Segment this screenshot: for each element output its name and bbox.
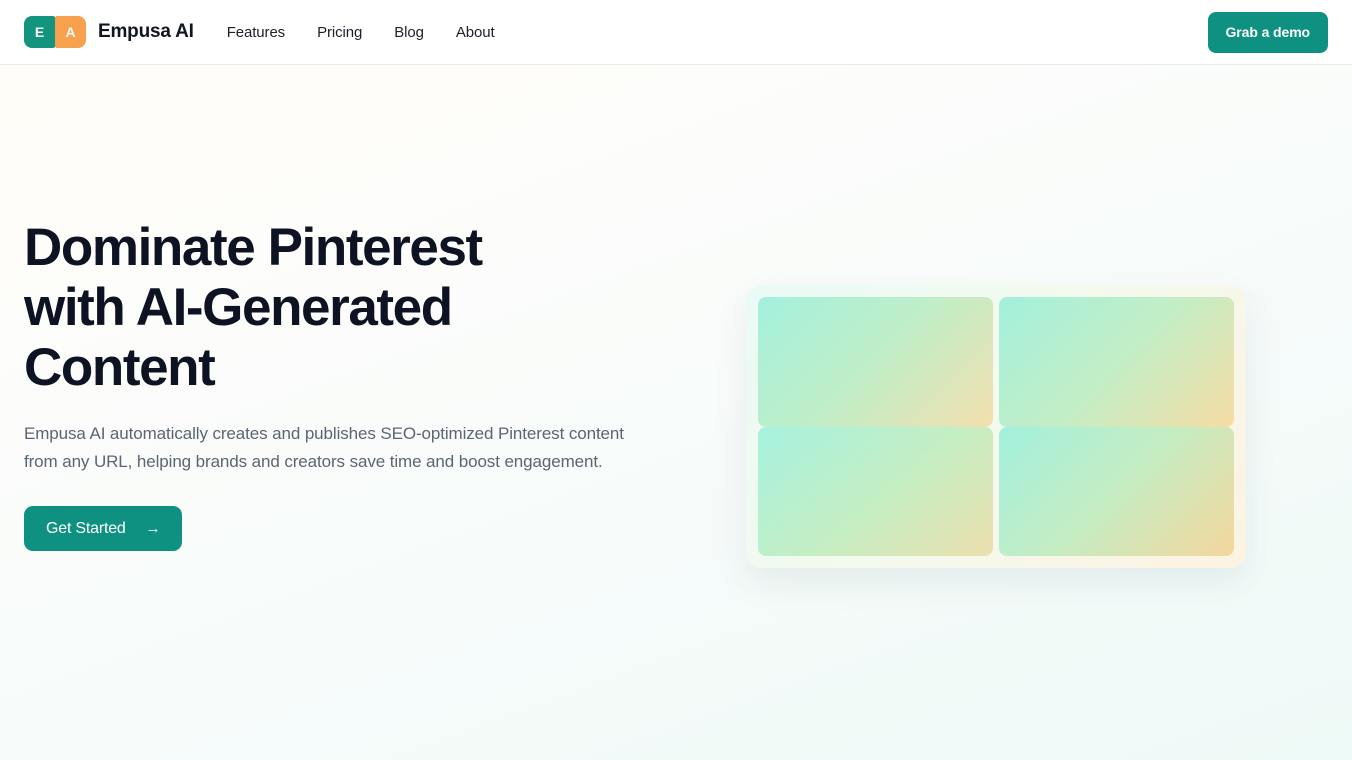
hero-tile-top-right	[999, 297, 1234, 427]
hero-subtitle: Empusa AI automatically creates and publ…	[24, 420, 624, 476]
hero-tile-bottom-right	[999, 427, 1234, 557]
logo-mark-icon: E A	[24, 16, 86, 48]
site-header: E A Empusa AI Features Pricing Blog Abou…	[0, 0, 1352, 65]
hero-text-column: Dominate Pinterest with AI-Generated Con…	[24, 193, 664, 551]
hero-tile-top-left	[758, 297, 993, 427]
get-started-label: Get Started	[46, 520, 126, 538]
hero-tile-bottom-left	[758, 427, 993, 557]
nav-item-features[interactable]: Features	[227, 24, 285, 41]
main-nav: Features Pricing Blog About	[227, 24, 495, 41]
hero-headline: Dominate Pinterest with AI-Generated Con…	[24, 218, 584, 398]
nav-item-about[interactable]: About	[456, 24, 495, 41]
nav-item-pricing[interactable]: Pricing	[317, 24, 362, 41]
hero-image-grid	[746, 285, 1246, 568]
logo-letter-a: A	[55, 16, 86, 48]
hero-section: Dominate Pinterest with AI-Generated Con…	[0, 65, 1352, 760]
arrow-right-icon: →	[146, 521, 161, 536]
grab-demo-button[interactable]: Grab a demo	[1208, 12, 1328, 53]
nav-item-blog[interactable]: Blog	[394, 24, 424, 41]
brand-logo[interactable]: E A Empusa AI	[24, 16, 194, 48]
brand-name: Empusa AI	[98, 21, 194, 43]
logo-letter-e: E	[24, 16, 55, 48]
get-started-button[interactable]: Get Started →	[24, 506, 182, 551]
hero-visual-column	[664, 193, 1328, 568]
